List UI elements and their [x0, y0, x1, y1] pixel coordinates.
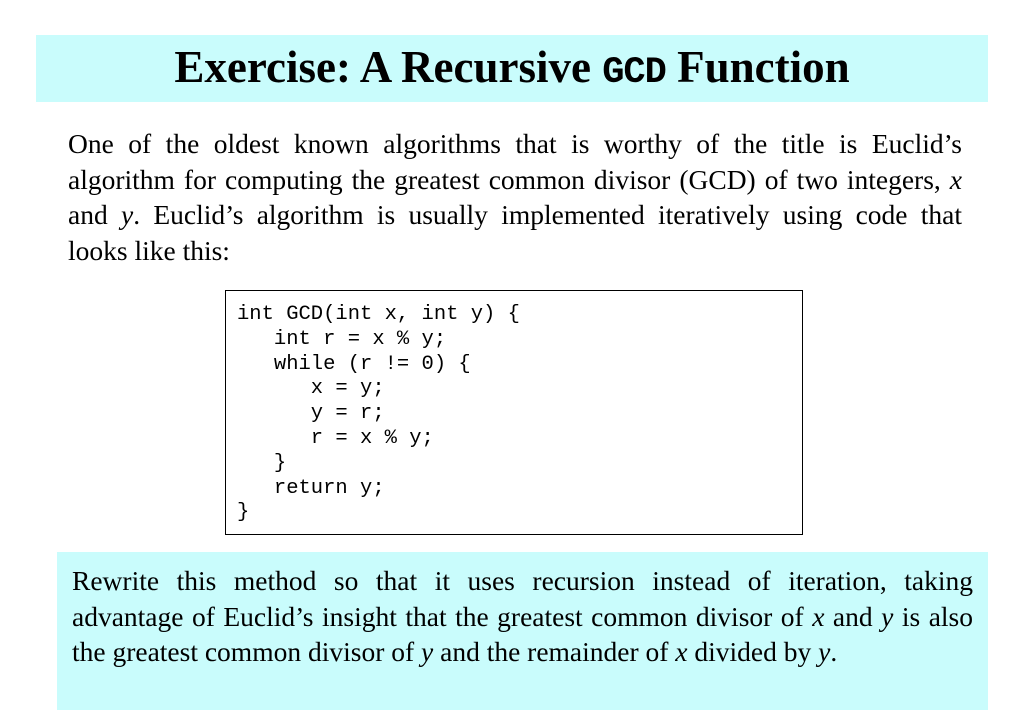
title-part-1: Exercise: A Recursive [174, 42, 602, 92]
intro-var-y: y [121, 199, 133, 230]
task-line-1: Rewrite this method so that it uses recu… [72, 565, 887, 596]
intro-line-3-c: . Euclid’s algorithm is usually [133, 199, 488, 230]
task-line-3-b: and [824, 601, 881, 632]
title-part-2: Function [666, 42, 850, 92]
intro-paragraph: One of the oldest known algorithms that … [68, 126, 962, 268]
title-mono-gcd: GCD [602, 52, 666, 94]
task-var-x-2: x [675, 636, 687, 667]
task-line-3-d: and [433, 636, 480, 667]
intro-var-x: x [950, 164, 962, 195]
task-var-y: y [881, 601, 893, 632]
intro-line-3-b: and [68, 199, 121, 230]
task-line-4-c: . [830, 636, 837, 667]
title-banner: Exercise: A Recursive GCD Function [36, 35, 988, 102]
task-var-y-3: y [818, 636, 830, 667]
intro-line-3-a: (GCD) of two integers, [679, 164, 949, 195]
code-sample-text: int GCD(int x, int y) { int r = x % y; w… [226, 291, 802, 526]
page-title: Exercise: A Recursive GCD Function [174, 45, 849, 92]
code-sample-box: int GCD(int x, int y) { int r = x % y; w… [225, 290, 803, 535]
task-paragraph: Rewrite this method so that it uses recu… [57, 552, 988, 670]
task-line-3-a: divisor of [696, 601, 812, 632]
task-line-4-a: the remainder of [487, 636, 676, 667]
intro-line-1: One of the oldest known algorithms that … [68, 128, 857, 159]
task-var-y-2: y [421, 636, 433, 667]
task-line-4-b: divided by [688, 636, 819, 667]
task-banner: Rewrite this method so that it uses recu… [57, 552, 988, 710]
task-var-x: x [812, 601, 824, 632]
slide: Exercise: A Recursive GCD Function One o… [0, 0, 1023, 724]
